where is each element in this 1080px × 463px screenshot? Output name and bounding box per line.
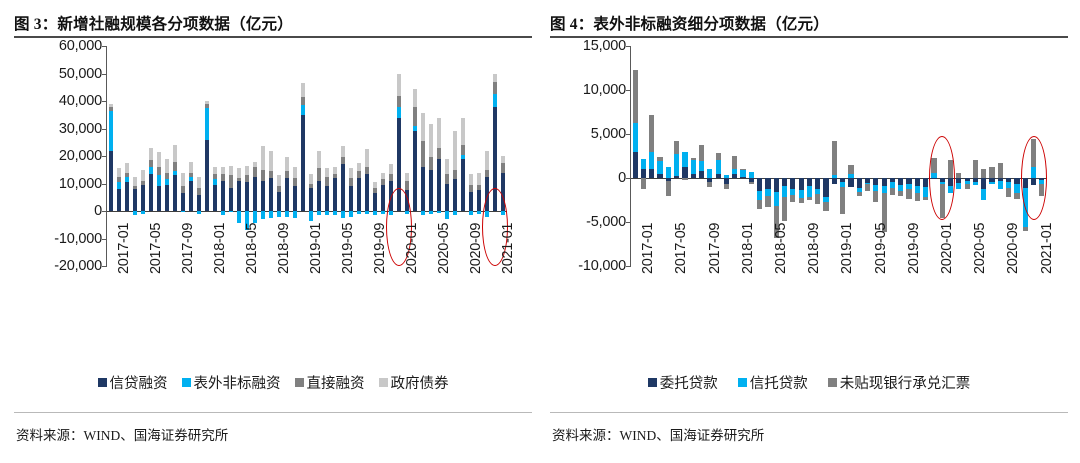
y-axis-tick: [626, 266, 631, 267]
bar-segment: [293, 167, 298, 178]
chart-fig3: -20,000-10,000010,00020,00030,00040,0005…: [14, 38, 532, 270]
y-tick-label: 10,000: [583, 82, 626, 98]
bar-segment: [269, 151, 274, 172]
bar-segment: [269, 171, 274, 178]
bar-segment: [691, 160, 696, 174]
bar-segment: [757, 191, 762, 200]
bar-segment: [221, 181, 226, 211]
bar-segment: [782, 186, 787, 197]
bar-segment: [325, 211, 330, 215]
y-axis-tick: [102, 46, 107, 47]
bar-segment: [213, 185, 218, 211]
bar-segment: [341, 157, 346, 164]
x-tick-label: 2019-01: [308, 223, 324, 274]
bar-segment: [740, 177, 745, 178]
bar-segment: [125, 182, 130, 211]
x-tick-label: 2018-09: [806, 223, 822, 274]
legend-swatch: [648, 378, 657, 387]
bar-segment: [649, 152, 654, 170]
bar-segment: [157, 186, 162, 211]
bar-segment: [277, 186, 282, 192]
bar-segment: [381, 173, 386, 180]
bar-segment: [349, 178, 354, 186]
bar-segment: [981, 189, 986, 200]
bar-segment: [923, 197, 928, 200]
bar-segment: [173, 171, 178, 175]
bar-segment: [229, 211, 234, 212]
bar-segment: [157, 152, 162, 167]
bar-segment: [325, 177, 330, 187]
bar-segment: [317, 168, 322, 180]
bar-segment: [740, 169, 745, 170]
bar-segment: [453, 131, 458, 170]
bar-segment: [229, 188, 234, 211]
x-tick-label: 2018-09: [276, 223, 292, 274]
bar-segment: [277, 175, 282, 186]
bar-segment: [421, 211, 426, 215]
bar-segment: [429, 124, 434, 157]
y-axis-tick: [626, 90, 631, 91]
bar-segment: [397, 107, 402, 118]
x-tick-label: 2017-09: [180, 223, 196, 274]
bar-segment: [277, 211, 282, 217]
bar-segment: [117, 168, 122, 176]
bar-segment: [445, 159, 450, 174]
bar-segment: [1006, 188, 1011, 198]
bar-segment: [691, 158, 696, 161]
bar-segment: [173, 175, 178, 211]
bar-segment: [782, 178, 787, 186]
x-tick-label: 2019-05: [340, 223, 356, 274]
bar-segment: [923, 178, 928, 187]
bar-segment: [823, 178, 828, 197]
bar-segment: [790, 195, 795, 202]
bar-segment: [109, 107, 114, 111]
bar-segment: [333, 174, 338, 178]
bar-segment: [998, 163, 1003, 178]
bar-segment: [501, 163, 506, 173]
bar-segment: [349, 168, 354, 178]
bar-segment: [373, 182, 378, 188]
bar-segment: [477, 211, 482, 214]
source-note: 资料来源：WIND、国海证券研究所: [552, 424, 764, 444]
bar-segment: [149, 160, 154, 167]
bar-segment: [469, 174, 474, 185]
y-tick-label: 20,000: [59, 148, 102, 164]
bar-segment: [293, 178, 298, 186]
y-axis-tick: [626, 134, 631, 135]
y-tick-label: 50,000: [59, 66, 102, 82]
y-axis-tick: [102, 74, 107, 75]
bar-segment: [973, 160, 978, 178]
bar-segment: [165, 185, 170, 211]
bar-segment: [253, 167, 258, 177]
bar-segment: [437, 211, 442, 213]
bar-segment: [205, 140, 210, 212]
bar-segment: [765, 189, 770, 197]
bar-segment: [873, 191, 878, 202]
bar-segment: [213, 174, 218, 180]
bar-segment: [485, 151, 490, 170]
bar-segment: [229, 166, 234, 176]
bar-segment: [213, 167, 218, 174]
x-tick-label: 2017-05: [148, 223, 164, 274]
bar-segment: [848, 174, 853, 178]
bar-segment: [253, 211, 258, 223]
legend-swatch: [182, 378, 191, 387]
bar-segment: [397, 96, 402, 107]
bar-segment: [857, 192, 862, 196]
bar-segment: [149, 148, 154, 160]
bar-segment: [657, 174, 662, 178]
bar-segment: [633, 123, 638, 151]
bar-segment: [181, 173, 186, 187]
bar-segment: [285, 157, 290, 171]
legend-swatch: [98, 378, 107, 387]
bar-segment: [189, 173, 194, 177]
legend-label: 未贴现银行承兑汇票: [840, 372, 971, 393]
bar-segment: [840, 187, 845, 214]
bar-segment: [141, 211, 146, 214]
bar-segment: [469, 211, 474, 215]
bar-segment: [981, 178, 986, 189]
bar-segment: [682, 178, 687, 180]
x-tick-label: 2020-05: [972, 223, 988, 274]
bar-segment: [823, 202, 828, 211]
bar-segment: [373, 211, 378, 215]
bar-segment: [253, 177, 258, 211]
bar-segment: [699, 145, 704, 162]
bar-segment: [716, 153, 721, 160]
annotation-ellipse: [1021, 136, 1047, 220]
bar-segment: [221, 174, 226, 181]
legend-item: 表外非标融资: [182, 372, 281, 393]
bar-segment: [740, 170, 745, 177]
bar-segment: [125, 173, 130, 177]
bar-segment: [649, 115, 654, 152]
bar-segment: [309, 174, 314, 184]
bar-segment: [707, 169, 712, 178]
legend-label: 信托贷款: [750, 372, 808, 393]
x-axis-labels-fig4: 2017-012017-052017-092018-012018-052018-…: [550, 272, 1068, 364]
bar-segment: [205, 108, 210, 140]
bar-segment: [221, 211, 226, 215]
bar-segment: [915, 178, 920, 186]
figures-page: 图 3：新增社融规模各分项数据（亿元） -20,000-10,000010,00…: [0, 0, 1080, 463]
x-tick-label: 2019-09: [906, 223, 922, 274]
bar-segment: [317, 151, 322, 169]
bar-segment: [882, 178, 887, 186]
x-tick-label: 2021-01: [500, 223, 516, 274]
bar-segment: [245, 166, 250, 176]
bar-segment: [989, 167, 994, 178]
source-note: 资料来源：WIND、国海证券研究所: [16, 424, 228, 444]
bar-segment: [832, 175, 837, 178]
bar-segment: [461, 155, 466, 159]
bar-segment: [453, 211, 458, 215]
bar-segment: [437, 118, 442, 148]
bar-segment: [493, 82, 498, 94]
x-tick-label: 2021-01: [1039, 223, 1055, 274]
bar-segment: [365, 149, 370, 167]
bar-segment: [229, 175, 234, 187]
x-tick-label: 2020-01: [404, 223, 420, 274]
bar-segment: [197, 177, 202, 188]
bar-segment: [641, 178, 646, 189]
bar-segment: [437, 159, 442, 211]
bar-segment: [1014, 193, 1019, 199]
bar-segment: [301, 115, 306, 211]
legend-item: 委托贷款: [648, 372, 718, 393]
bar-segment: [301, 97, 306, 105]
bar-segment: [373, 193, 378, 211]
bar-segment: [981, 169, 986, 178]
bar-segment: [349, 186, 354, 211]
legend-fig4: 委托贷款信托贷款未贴现银行承兑汇票: [550, 372, 1068, 393]
bar-segment: [333, 211, 338, 215]
y-axis-tick: [102, 239, 107, 240]
legend-swatch: [295, 378, 304, 387]
y-axis-tick: [626, 46, 631, 47]
x-tick-label: 2017-05: [673, 223, 689, 274]
bar-segment: [898, 191, 903, 196]
bar-segment: [285, 171, 290, 178]
bar-segment: [333, 178, 338, 211]
bar-segment: [133, 186, 138, 189]
bar-segment: [261, 170, 266, 181]
bar-segment: [807, 186, 812, 197]
bar-segment: [445, 184, 450, 212]
bar-segment: [381, 185, 386, 211]
bar-segment: [461, 118, 466, 146]
bar-segment: [405, 173, 410, 181]
page-title: 图 4：表外非标融资细分项数据（亿元）: [548, 0, 1078, 36]
bar-segment: [691, 174, 696, 178]
x-tick-label: 2019-05: [873, 223, 889, 274]
bar-segment: [285, 178, 290, 211]
x-tick-label: 2020-09: [1005, 223, 1021, 274]
x-tick-label: 2020-09: [468, 223, 484, 274]
bar-segment: [421, 167, 426, 211]
bar-segment: [365, 174, 370, 211]
figure-panel-fig4: 图 4：表外非标融资细分项数据（亿元） -10,000-5,00005,0001…: [548, 0, 1078, 463]
bar-segment: [421, 113, 426, 141]
y-tick-label: 15,000: [583, 38, 626, 54]
y-axis-tick: [626, 222, 631, 223]
bar-segment: [253, 162, 258, 168]
legend-swatch: [379, 378, 388, 387]
bar-segment: [674, 154, 679, 176]
bar-segment: [261, 181, 266, 211]
y-axis-labels: -20,000-10,000010,00020,00030,00040,0005…: [14, 38, 106, 270]
bar-segment: [341, 211, 346, 218]
legend-label: 政府债券: [391, 372, 449, 393]
bar-segment: [699, 171, 704, 178]
bar-segment: [461, 145, 466, 155]
legend-label: 直接融资: [307, 372, 365, 393]
bar-segment: [848, 178, 853, 187]
y-tick-label: -5,000: [586, 214, 626, 230]
bar-segment: [429, 211, 434, 214]
bar-segment: [749, 172, 754, 178]
legend-swatch: [738, 378, 747, 387]
bar-segment: [765, 196, 770, 207]
bar-segment: [666, 167, 671, 178]
bar-segment: [301, 83, 306, 97]
bar-segment: [765, 178, 770, 189]
bar-segment: [381, 179, 386, 185]
bar-segment: [915, 193, 920, 202]
bar-segment: [757, 200, 762, 209]
y-tick-label: 0: [618, 170, 626, 186]
bar-segment: [413, 131, 418, 211]
bar-segment: [149, 167, 154, 174]
bar-segment: [309, 211, 314, 221]
bar-segment: [357, 171, 362, 178]
bar-segment: [848, 165, 853, 174]
bar-segment: [405, 181, 410, 191]
bar-segment: [117, 182, 122, 189]
bar-segment: [956, 183, 961, 189]
y-tick-label: 5,000: [591, 126, 626, 142]
bar-segment: [237, 211, 242, 223]
bar-segment: [1023, 227, 1028, 231]
bar-segment: [133, 177, 138, 187]
x-tick-label: 2018-01: [212, 223, 228, 274]
bar-segment: [923, 187, 928, 198]
bar-segment: [341, 146, 346, 157]
bar-segment: [325, 186, 330, 211]
bar-segment: [749, 182, 754, 185]
y-tick-label: 10,000: [59, 176, 102, 192]
bar-segment: [815, 194, 820, 205]
bar-segment: [641, 169, 646, 178]
bar-segment: [445, 174, 450, 184]
legend-item: 信托贷款: [738, 372, 808, 393]
y-tick-label: 60,000: [59, 38, 102, 54]
bar-segment: [989, 182, 994, 185]
bar-segment: [716, 160, 721, 173]
bar-segment: [157, 175, 162, 186]
bar-segment: [397, 74, 402, 96]
bar-segment: [389, 164, 394, 174]
legend-item: 信贷融资: [98, 372, 168, 393]
x-axis-labels-fig3: 2017-012017-052017-092018-012018-052018-…: [14, 272, 532, 364]
bar-segment: [133, 211, 138, 215]
bar-segment: [109, 151, 114, 212]
bar-segment: [269, 178, 274, 211]
legend-label: 信贷融资: [110, 372, 168, 393]
bar-segment: [699, 161, 704, 171]
bar-segment: [469, 185, 474, 192]
y-tick-label: -10,000: [54, 231, 102, 247]
bar-segment: [413, 89, 418, 107]
bar-segment: [774, 178, 779, 192]
bar-segment: [373, 188, 378, 194]
x-tick-label: 2020-05: [436, 223, 452, 274]
bar-segment: [485, 170, 490, 177]
bar-segment: [125, 163, 130, 173]
bar-segment: [774, 192, 779, 206]
x-tick-label: 2017-01: [116, 223, 132, 274]
bar-segment: [707, 182, 712, 187]
bar-segment: [898, 178, 903, 185]
bar-segment: [205, 101, 210, 104]
x-tick-label: 2020-01: [939, 223, 955, 274]
bar-segment: [261, 146, 266, 169]
bar-segment: [109, 104, 114, 107]
bar-segment: [453, 170, 458, 180]
bar-segment: [807, 178, 812, 186]
bar-segment: [865, 184, 870, 191]
y-axis-tick: [102, 101, 107, 102]
bar-segment: [109, 111, 114, 151]
source-divider: [550, 412, 1068, 413]
y-tick-label: 40,000: [59, 93, 102, 109]
bar-segment: [357, 178, 362, 211]
bar-segment: [429, 157, 434, 169]
bar-segment: [906, 189, 911, 199]
bar-segment: [815, 178, 820, 189]
bar-segment: [633, 70, 638, 124]
bar-segment: [857, 178, 862, 188]
bar-segment: [956, 173, 961, 178]
bar-segment: [493, 74, 498, 82]
bar-segment: [790, 178, 795, 189]
bar-segment: [633, 152, 638, 178]
bar-segment: [501, 156, 506, 163]
y-axis-tick: [102, 129, 107, 130]
legend-label: 表外非标融资: [194, 372, 281, 393]
bar-segment: [173, 145, 178, 162]
legend-fig3: 信贷融资表外非标融资直接融资政府债券: [14, 372, 532, 393]
y-axis-tick: [102, 184, 107, 185]
bar-segment: [381, 211, 386, 214]
bar-segment: [293, 211, 298, 218]
annotation-ellipse: [929, 136, 955, 220]
bar-segment: [782, 197, 787, 221]
bar-segment: [133, 189, 138, 211]
bar-segment: [341, 164, 346, 211]
bar-segment: [189, 181, 194, 211]
bar-segment: [998, 181, 1003, 190]
bar-segment: [674, 176, 679, 178]
bar-segment: [682, 152, 687, 167]
bar-segment: [237, 168, 242, 178]
source-divider: [14, 412, 532, 413]
bar-segment: [807, 197, 812, 200]
bar-segment: [197, 188, 202, 195]
bar-segment: [641, 159, 646, 170]
bar-segment: [757, 178, 762, 191]
bar-segment: [832, 141, 837, 174]
bar-segment: [141, 181, 146, 185]
bar-segment: [181, 186, 186, 193]
bar-segment: [477, 185, 482, 191]
bar-segment: [389, 174, 394, 181]
x-tick-label: 2018-01: [740, 223, 756, 274]
bar-segment: [237, 181, 242, 211]
bar-segment: [293, 186, 298, 211]
x-tick-label: 2019-09: [372, 223, 388, 274]
bar-segment: [437, 148, 442, 159]
legend-item: 政府债券: [379, 372, 449, 393]
bar-segment: [197, 195, 202, 212]
bar-segment: [325, 168, 330, 176]
bar-segment: [221, 167, 226, 174]
bar-segment: [461, 159, 466, 211]
bar-segment: [141, 185, 146, 211]
